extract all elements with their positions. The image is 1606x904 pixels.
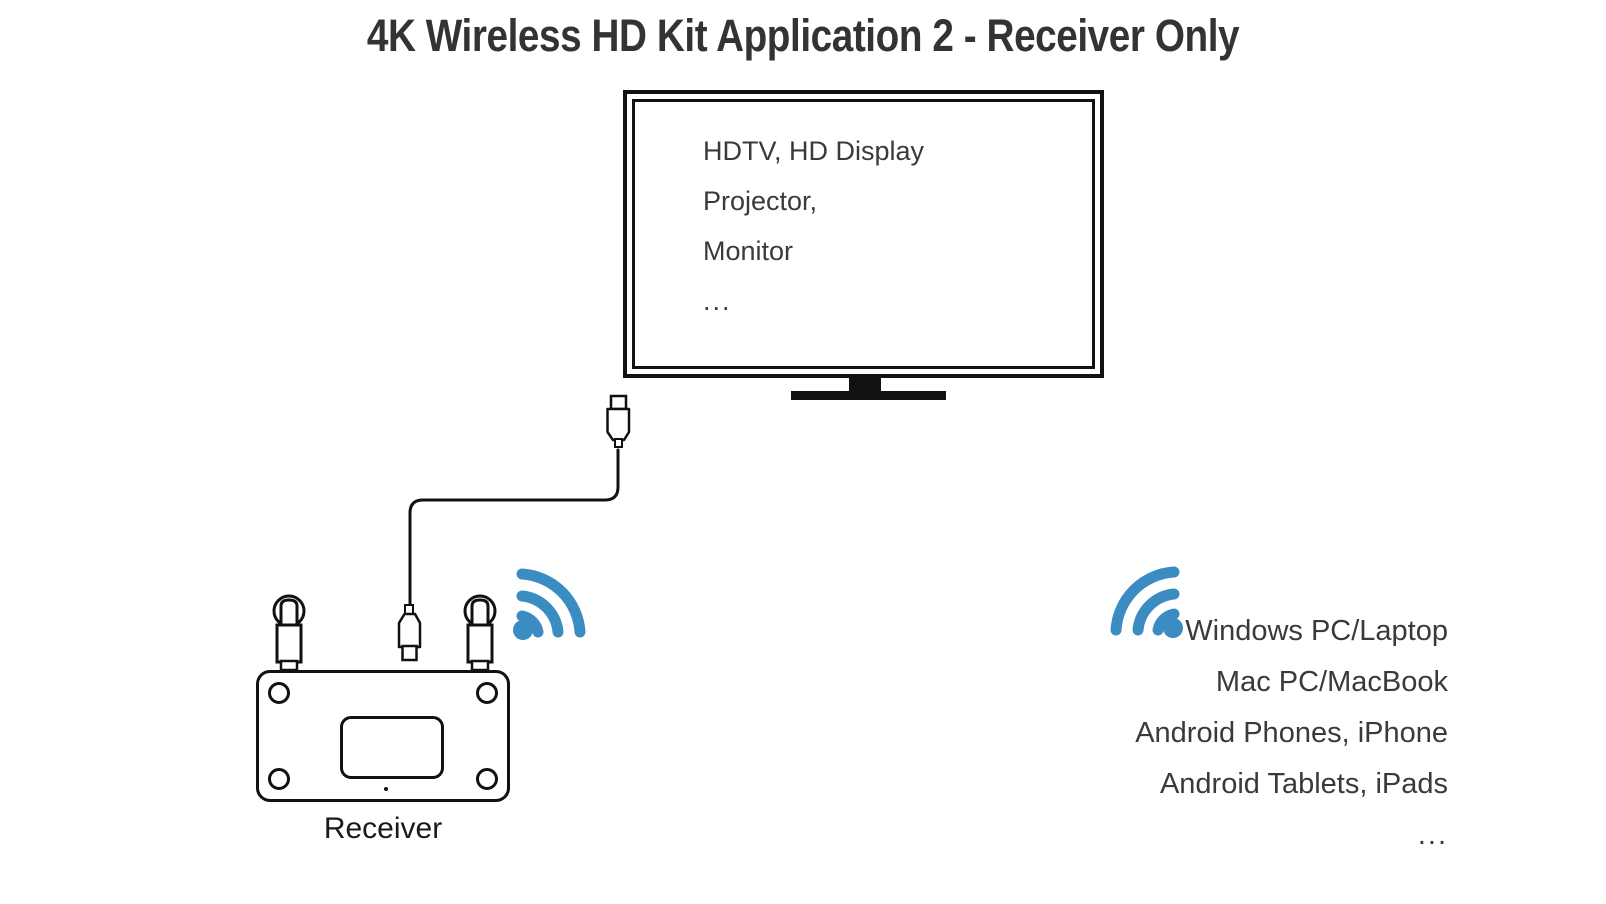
receiver-label: Receiver [256,812,510,846]
receiver-led-indicator [384,787,388,791]
receiver-screw-bottom-right [476,768,498,790]
hdmi-plug-receiver-end [391,603,427,663]
receiver-antenna-left [266,592,312,674]
receiver-screw-top-left [268,682,290,704]
display-line-2: Projector, [703,176,924,226]
tv-stand-base [791,391,946,400]
display-line-1: HDTV, HD Display [703,126,924,176]
source-device-list: Windows PC/Laptop Mac PC/MacBook Android… [1000,606,1448,861]
diagram-canvas: 4K Wireless HD Kit Application 2 - Recei… [0,0,1606,904]
display-line-3: Monitor [703,226,924,276]
device-item-android-phones: Android Phones, iPhone [1000,708,1448,759]
receiver-device [256,670,510,802]
hdtv-display-frame: HDTV, HD Display Projector, Monitor ... [623,90,1104,378]
hdtv-display-screen: HDTV, HD Display Projector, Monitor ... [632,99,1095,369]
device-item-more: ... [1000,810,1448,861]
device-item-windows: Windows PC/Laptop [1000,606,1448,657]
hdmi-plug-display-end [600,394,636,450]
page-title: 4K Wireless HD Kit Application 2 - Recei… [112,10,1493,62]
receiver-antenna-right [457,592,503,674]
display-line-4: ... [703,276,924,326]
device-item-android-tablets: Android Tablets, iPads [1000,759,1448,810]
wifi-icon [508,558,594,644]
receiver-screw-bottom-left [268,768,290,790]
device-item-mac: Mac PC/MacBook [1000,657,1448,708]
receiver-screw-top-right [476,682,498,704]
display-text-block: HDTV, HD Display Projector, Monitor ... [703,126,924,326]
receiver-front-panel [340,716,444,779]
